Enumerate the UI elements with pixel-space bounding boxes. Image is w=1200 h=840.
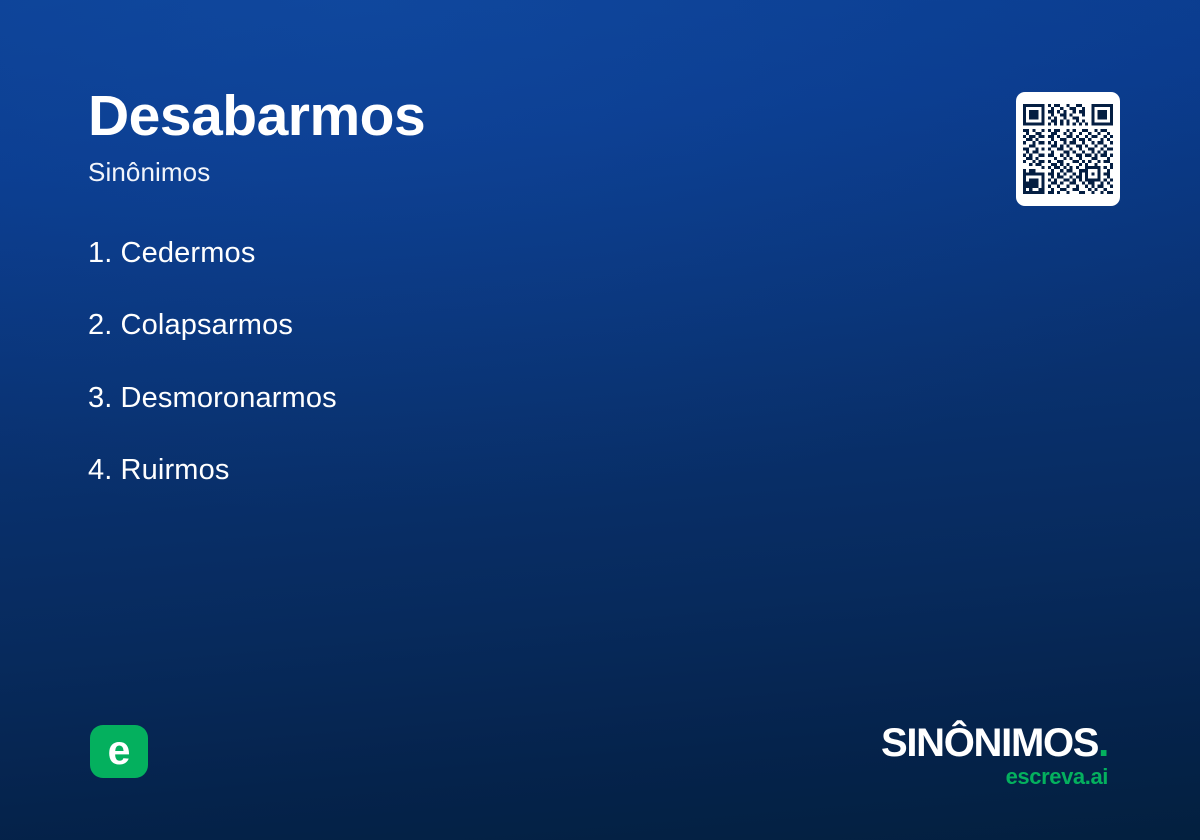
list-item-label: Desmoronarmos — [121, 382, 337, 414]
synonym-card: Desabarmos Sinônimos — [0, 0, 1200, 840]
list-item-index: 3. — [88, 382, 113, 414]
escreva-logo-letter: e — [108, 730, 131, 771]
list-item: 3.Desmoronarmos — [88, 381, 337, 416]
list-item-label: Colapsarmos — [121, 309, 294, 341]
list-item-index: 4. — [88, 454, 113, 486]
list-item-label: Cedermos — [121, 237, 256, 269]
card-content: Desabarmos Sinônimos — [0, 0, 1200, 840]
brand-wordmark: SINÔNIMOS. escreva.ai — [881, 723, 1108, 788]
list-item-index: 2. — [88, 309, 113, 341]
page-subtitle: Sinônimos — [88, 157, 1112, 188]
synonym-list: 1.Cedermos 2.Colapsarmos 3.Desmoronarmos… — [88, 236, 337, 489]
list-item: 1.Cedermos — [88, 236, 337, 271]
qr-code-icon — [1023, 104, 1113, 194]
wordmark-secondary: escreva.ai — [881, 766, 1108, 788]
qr-code-container[interactable] — [1016, 92, 1120, 206]
escreva-logo-icon[interactable]: e — [90, 725, 148, 778]
wordmark-dot: . — [1098, 721, 1108, 765]
list-item-index: 1. — [88, 237, 113, 269]
page-title: Desabarmos — [88, 86, 1112, 148]
wordmark-primary: SINÔNIMOS. — [881, 723, 1108, 763]
list-item-label: Ruirmos — [121, 454, 230, 486]
header: Desabarmos Sinônimos — [88, 86, 1112, 188]
list-item: 2.Colapsarmos — [88, 308, 337, 343]
list-item: 4.Ruirmos — [88, 453, 337, 488]
wordmark-primary-text: SINÔNIMOS — [881, 721, 1098, 765]
